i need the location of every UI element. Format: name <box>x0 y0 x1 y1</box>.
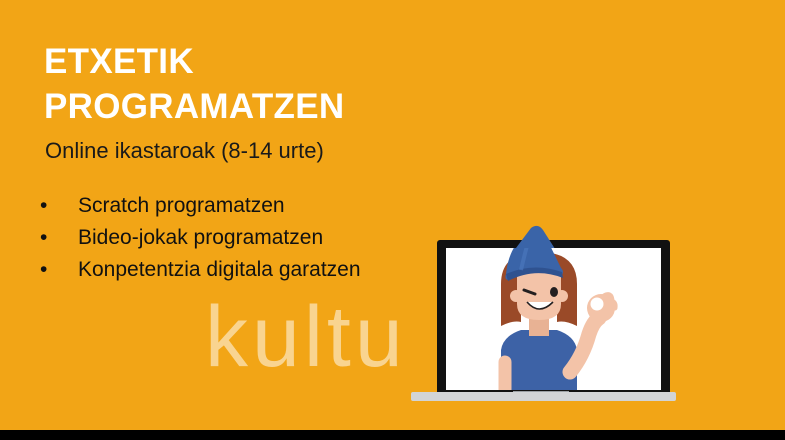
list-item: • Bideo-jokak programatzen <box>40 222 361 254</box>
slide-canvas: kultu ETXETIK PROGRAMATZEN Online ikasta… <box>0 0 785 430</box>
bottom-black-bar <box>0 430 785 440</box>
list-item: • Konpetentzia digitala garatzen <box>40 254 361 286</box>
laptop-illustration <box>405 222 675 404</box>
bullet-marker-icon: • <box>40 222 78 254</box>
watermark-text: kultu <box>205 294 407 380</box>
title-line-1: ETXETIK <box>44 40 464 85</box>
page-title: ETXETIK PROGRAMATZEN <box>44 40 464 130</box>
bullet-list: • Scratch programatzen • Bideo-jokak pro… <box>40 190 361 286</box>
list-item: • Scratch programatzen <box>40 190 361 222</box>
bullet-marker-icon: • <box>40 254 78 286</box>
list-item-label: Konpetentzia digitala garatzen <box>78 254 361 286</box>
list-item-label: Bideo-jokak programatzen <box>78 222 323 254</box>
bullet-marker-icon: • <box>40 190 78 222</box>
title-line-2: PROGRAMATZEN <box>44 85 464 130</box>
subtitle: Online ikastaroak (8-14 urte) <box>45 138 324 164</box>
slide-root: kultu ETXETIK PROGRAMATZEN Online ikasta… <box>0 0 785 440</box>
laptop-base <box>411 392 676 401</box>
list-item-label: Scratch programatzen <box>78 190 285 222</box>
laptop-screen <box>446 248 661 390</box>
